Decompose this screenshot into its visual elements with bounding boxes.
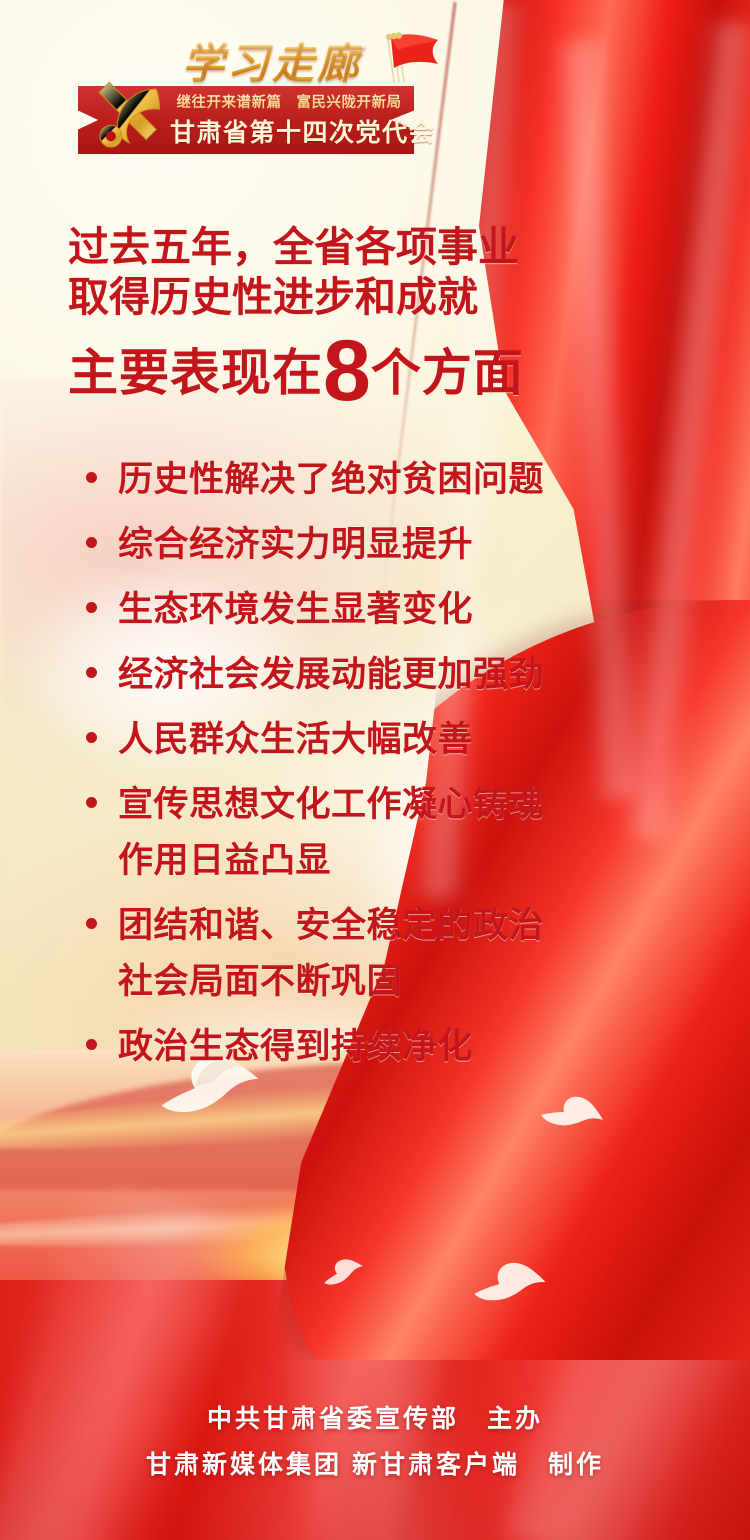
bullet-dot-icon bbox=[86, 472, 97, 483]
list-item-label: 团结和谐、安全稳定的政治 bbox=[118, 898, 642, 954]
list-item-label: 生态环境发生显著变化 bbox=[118, 582, 642, 638]
list-item-label-line2: 社会局面不断巩固 bbox=[118, 954, 642, 1010]
list-item: 综合经济实力明显提升 bbox=[82, 517, 642, 573]
list-item-label: 历史性解决了绝对贫困问题 bbox=[118, 452, 642, 508]
achievement-list: 历史性解决了绝对贫困问题 综合经济实力明显提升 生态环境发生显著变化 经济社会发… bbox=[82, 452, 642, 1084]
bullet-dot-icon bbox=[86, 732, 97, 743]
list-item-label: 人民群众生活大幅改善 bbox=[118, 712, 642, 768]
red-flag-icon bbox=[378, 32, 442, 88]
list-item-label: 经济社会发展动能更加强劲 bbox=[118, 647, 642, 703]
bullet-dot-icon bbox=[86, 667, 97, 678]
badge-conference: 甘肃省第十四次党代会 bbox=[170, 113, 408, 149]
title-highlight: 主要表现在8个方面 bbox=[68, 336, 588, 408]
list-item-label: 政治生态得到持续净化 bbox=[118, 1019, 642, 1075]
bullet-dot-icon bbox=[86, 1039, 97, 1050]
title-line-1: 过去五年，全省各项事业 bbox=[68, 222, 588, 272]
list-item: 宣传思想文化工作凝心铸魂 作用日益凸显 bbox=[82, 777, 642, 889]
footer-line-2: 甘肃新媒体集团 新甘肃客户端 制作 bbox=[0, 1442, 750, 1488]
list-item-label: 宣传思想文化工作凝心铸魂 bbox=[118, 777, 642, 833]
highlight-number: 8 bbox=[323, 323, 371, 419]
bullet-dot-icon bbox=[86, 918, 97, 929]
poster-canvas: 学习走廊 继往开来谱新篇 富民兴陇开新局 甘肃省第十四次党代会 过去五年，全省各… bbox=[0, 0, 750, 1540]
title-line-2: 取得历史性进步和成就 bbox=[68, 272, 588, 322]
list-item: 经济社会发展动能更加强劲 bbox=[82, 647, 642, 703]
footer-line-1: 中共甘肃省委宣传部 主办 bbox=[0, 1396, 750, 1442]
footer-credits: 中共甘肃省委宣传部 主办 甘肃新媒体集团 新甘肃客户端 制作 bbox=[0, 1396, 750, 1488]
dove-icon bbox=[465, 1253, 549, 1309]
list-item-label-line2: 作用日益凸显 bbox=[118, 833, 642, 889]
badge-slogan: 继往开来谱新篇 富民兴陇开新局 bbox=[170, 91, 408, 112]
list-item: 历史性解决了绝对贫困问题 bbox=[82, 452, 642, 508]
list-item: 人民群众生活大幅改善 bbox=[82, 712, 642, 768]
highlight-suffix: 个方面 bbox=[371, 345, 524, 401]
header-badge: 学习走廊 继往开来谱新篇 富民兴陇开新局 甘肃省第十四次党代会 bbox=[78, 28, 438, 158]
list-item-label: 综合经济实力明显提升 bbox=[118, 517, 642, 573]
main-title: 过去五年，全省各项事业 取得历史性进步和成就 主要表现在8个方面 bbox=[68, 222, 588, 408]
list-item: 生态环境发生显著变化 bbox=[82, 582, 642, 638]
highlight-prefix: 主要表现在 bbox=[68, 345, 323, 401]
bullet-dot-icon bbox=[86, 797, 97, 808]
bullet-dot-icon bbox=[86, 537, 97, 548]
list-item: 政治生态得到持续净化 bbox=[82, 1019, 642, 1075]
list-item: 团结和谐、安全稳定的政治 社会局面不断巩固 bbox=[82, 898, 642, 1010]
bullet-dot-icon bbox=[86, 602, 97, 613]
hammer-sickle-icon bbox=[84, 74, 168, 158]
calligraphy-title: 学习走廊 bbox=[182, 30, 362, 91]
